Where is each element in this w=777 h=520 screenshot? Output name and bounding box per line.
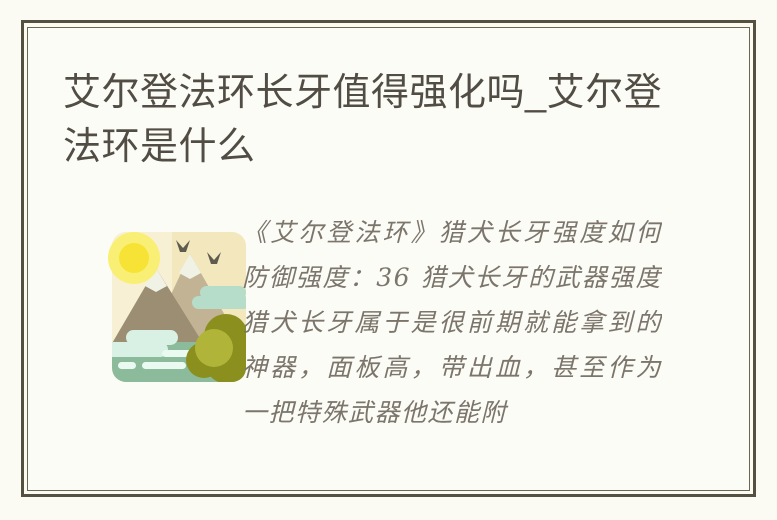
page-title: 艾尔登法环长牙值得强化吗_艾尔登法环是什么: [63, 66, 683, 174]
article-inner-frame: 艾尔登法环长牙值得强化吗_艾尔登法环是什么: [27, 27, 750, 491]
mountain-landscape-icon: [104, 224, 254, 394]
article-body: 《艾尔登法环》猎犬长牙强度如何防御强度：36 猎犬长牙的武器强度 猎犬长牙属于是…: [28, 200, 749, 490]
article-excerpt: 《艾尔登法环》猎犬长牙强度如何防御强度：36 猎犬长牙的武器强度 猎犬长牙属于是…: [242, 210, 662, 435]
article-card: 艾尔登法环长牙值得强化吗_艾尔登法环是什么: [21, 20, 756, 497]
article-thumbnail[interactable]: [104, 224, 254, 394]
